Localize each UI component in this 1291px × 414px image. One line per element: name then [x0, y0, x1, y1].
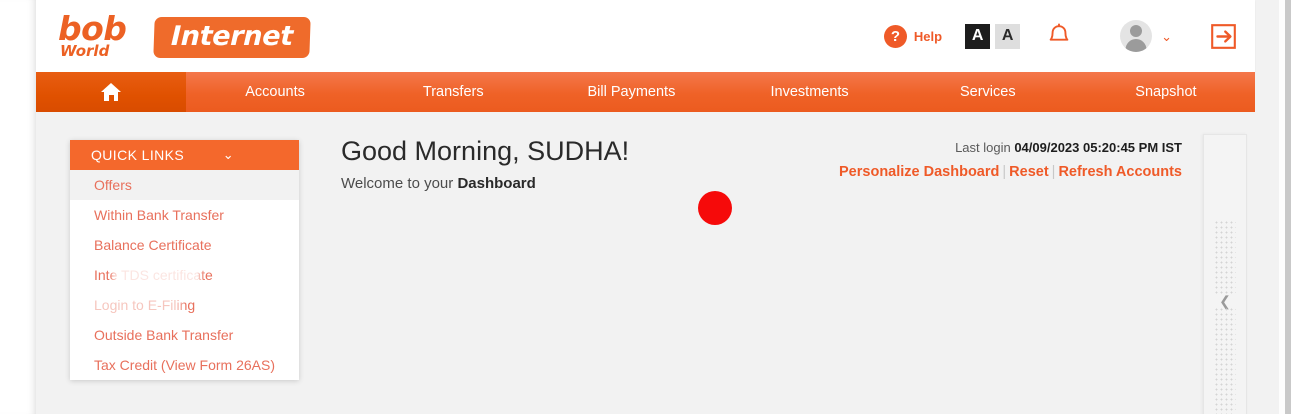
logo-world-text: World — [60, 44, 109, 59]
last-login-timestamp: 04/09/2023 05:20:45 PM IST — [1014, 140, 1182, 155]
browser-viewport: bob World Internet ? Help A A — [36, 0, 1279, 414]
page-content: QUICK LINKS ⌄ Offers Within Bank Transfe… — [36, 112, 1279, 414]
quick-link-login-to-e-filing[interactable]: Login to E-Filing — [70, 290, 299, 320]
welcome-dashboard-word: Dashboard — [457, 175, 535, 192]
question-mark-icon: ? — [884, 25, 907, 48]
action-separator: | — [1049, 164, 1059, 180]
screenshot-root: bob World Internet ? Help A A — [0, 0, 1291, 414]
nav-snapshot[interactable]: Snapshot — [1077, 72, 1255, 112]
window-right-edge — [1285, 0, 1291, 414]
quick-link-within-bank-transfer[interactable]: Within Bank Transfer — [70, 200, 299, 230]
page-title: Good Morning, SUDHA! — [341, 134, 629, 168]
nav-transfers[interactable]: Transfers — [364, 72, 542, 112]
action-separator: | — [999, 164, 1009, 180]
nav-accounts[interactable]: Accounts — [186, 72, 364, 112]
quick-link-offers[interactable]: Offers — [70, 170, 299, 200]
nav-bill-payments[interactable]: Bill Payments — [542, 72, 720, 112]
home-icon-door — [109, 95, 114, 101]
drag-handle-dots-top — [1214, 220, 1236, 294]
chevron-down-icon: ⌄ — [1161, 30, 1172, 43]
redaction-overlay — [117, 261, 197, 289]
drag-handle-dots-bottom — [1214, 307, 1236, 414]
logout-arrow-icon[interactable] — [1210, 23, 1237, 50]
bob-world-logo-text: bob World — [58, 12, 146, 64]
quick-links-title: QUICK LINKS — [91, 147, 184, 163]
font-size-large-button[interactable]: A — [965, 24, 990, 49]
nav-home[interactable] — [36, 72, 186, 112]
header-tools: ? Help A A ⌄ — [884, 14, 1237, 58]
help-label: Help — [914, 29, 942, 44]
chevron-down-icon: ⌄ — [223, 147, 234, 163]
click-position-marker — [698, 191, 732, 225]
help-button[interactable]: ? Help — [884, 25, 942, 48]
dashboard-actions: Personalize Dashboard|Reset|Refresh Acco… — [839, 164, 1182, 180]
main-navigation: Accounts Transfers Bill Payments Investm… — [36, 72, 1255, 112]
welcome-subtitle: Welcome to your Dashboard — [341, 175, 629, 192]
right-side-panel[interactable]: ❮ — [1203, 134, 1247, 414]
avatar — [1120, 20, 1152, 52]
last-login-text: Last login 04/09/2023 05:20:45 PM IST — [839, 140, 1182, 155]
quick-links-list: Offers Within Bank Transfer Balance Cert… — [70, 170, 299, 380]
nav-investments[interactable]: Investments — [721, 72, 899, 112]
bell-icon[interactable] — [1046, 23, 1072, 50]
font-size-small-button[interactable]: A — [995, 24, 1020, 49]
welcome-prefix: Welcome to your — [341, 175, 457, 192]
site-header: bob World Internet ? Help A A — [36, 0, 1255, 72]
quick-link-balance-certificate[interactable]: Balance Certificate — [70, 230, 299, 260]
bob-world-internet-logo[interactable]: bob World Internet — [58, 6, 310, 64]
font-size-controls: A A — [965, 24, 1020, 49]
reset-link[interactable]: Reset — [1009, 164, 1049, 180]
quick-link-tax-credit-form-26as[interactable]: Tax Credit (View Form 26AS) — [70, 350, 299, 380]
quick-link-interest-tds-certificate[interactable]: Inte TDS certificate — [70, 260, 299, 290]
left-page-margin — [0, 0, 36, 414]
home-icon — [101, 83, 121, 101]
redaction-overlay — [82, 292, 177, 316]
profile-menu[interactable]: ⌄ — [1120, 20, 1172, 52]
quick-link-outside-bank-transfer[interactable]: Outside Bank Transfer — [70, 320, 299, 350]
personalize-dashboard-link[interactable]: Personalize Dashboard — [839, 164, 999, 180]
nav-services[interactable]: Services — [899, 72, 1077, 112]
refresh-accounts-link[interactable]: Refresh Accounts — [1058, 164, 1182, 180]
greeting-block: Good Morning, SUDHA! Welcome to your Das… — [341, 134, 629, 192]
quick-links-panel: QUICK LINKS ⌄ Offers Within Bank Transfe… — [70, 140, 299, 380]
quick-links-header[interactable]: QUICK LINKS ⌄ — [70, 140, 299, 170]
last-login-block: Last login 04/09/2023 05:20:45 PM IST Pe… — [839, 140, 1182, 180]
logo-internet-badge: Internet — [153, 17, 310, 58]
logo-bob-text: bob — [58, 12, 126, 45]
last-login-label: Last login — [955, 140, 1014, 155]
